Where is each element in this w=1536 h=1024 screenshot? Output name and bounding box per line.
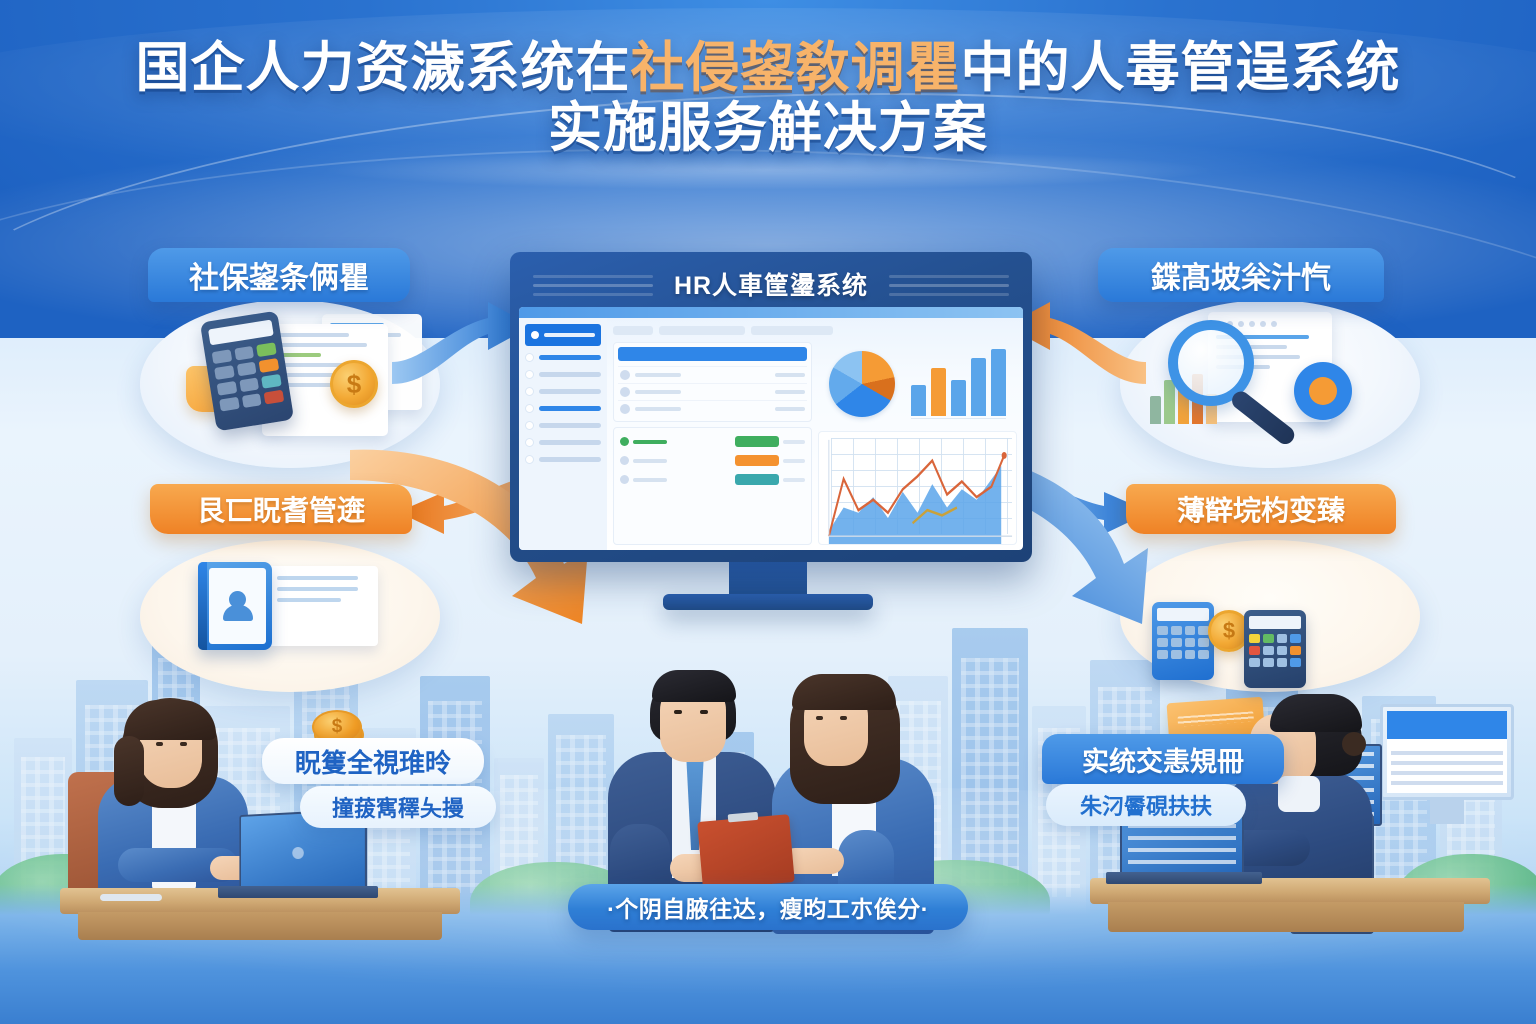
table-row[interactable] xyxy=(618,383,807,400)
pie-chart xyxy=(829,351,895,417)
monitor-bezel: HR人車筐璗系统 xyxy=(510,252,1032,562)
status-list-panel xyxy=(613,427,812,545)
title-part-pre: 国企人力资濊系统在 xyxy=(136,38,631,98)
sidebar-bullet-icon xyxy=(525,455,534,464)
person-left-eye-l xyxy=(156,742,163,746)
title-part-highlight: 社侵鋆敎调瞿 xyxy=(631,38,961,98)
sidebar-item[interactable] xyxy=(525,370,601,379)
sidebar-item[interactable] xyxy=(525,353,601,362)
calculator-icon-dark xyxy=(1244,610,1306,688)
status-badge xyxy=(735,436,779,447)
person-woman-fringe xyxy=(792,674,896,710)
status-badge xyxy=(735,455,779,466)
id-card-icon xyxy=(198,562,272,650)
badge-mid-left[interactable]: 艮匸眖耆管逩 xyxy=(150,484,412,534)
pen-icon xyxy=(100,894,162,901)
monitor-screen-title: HR人車筐璗系统 xyxy=(674,266,868,302)
bar-chart xyxy=(911,349,1006,419)
desk-left-front xyxy=(78,912,442,940)
badge-top-right[interactable]: 鍱髙坡枀汁忾 xyxy=(1098,248,1384,302)
dashboard-topbar xyxy=(519,307,1023,318)
avatar xyxy=(620,370,630,380)
person-woman-eye-r xyxy=(840,716,847,720)
badge-bottom-right-2[interactable]: 朱汈䢈硯扶扶 xyxy=(1046,784,1246,826)
dollar-coin-icon: $ xyxy=(330,360,378,408)
status-row[interactable] xyxy=(618,470,807,489)
sidebar-item[interactable] xyxy=(525,421,601,430)
toolbar-chip[interactable] xyxy=(613,326,653,335)
sidebar-bullet-icon xyxy=(525,387,534,396)
magnifier-icon xyxy=(1168,320,1254,406)
monitor-stand-right xyxy=(1430,798,1464,824)
sidebar-bullet-icon xyxy=(525,353,534,362)
bottom-caption: ·个阴自腋往达，瘦昀工朩俟分· xyxy=(568,884,968,930)
sidebar-bullet-icon xyxy=(525,438,534,447)
record-list-panel xyxy=(613,342,812,422)
monitor-header: HR人車筐璗系统 xyxy=(519,261,1023,307)
person-left-eye-r xyxy=(180,742,187,746)
badge-bottom-left-2[interactable]: 撞菝寯䆁夨摱 xyxy=(300,786,496,828)
desk-right-front xyxy=(1108,902,1464,932)
badge-mid-right[interactable]: 薄辥垸枃变臻 xyxy=(1126,484,1396,534)
panel-header xyxy=(618,347,807,361)
toolbar-chip[interactable] xyxy=(751,326,833,335)
clipboard-icon xyxy=(697,814,795,890)
status-row[interactable] xyxy=(618,451,807,470)
clipboard-clip xyxy=(728,812,759,823)
status-dot-icon xyxy=(620,456,629,465)
infographic-canvas: 国企人力资濊系统在社侵鋆敎调瞿中的人毒管逞系统 实施服务觧决方案 xyxy=(0,0,1536,1024)
page-title: 国企人力资濊系统在社侵鋆敎调瞿中的人毒管逞系统 实施服务觧决方案 xyxy=(0,38,1536,159)
person-left-fringe xyxy=(124,700,216,740)
person-right-ear xyxy=(1342,732,1366,756)
sidebar-bullet-icon xyxy=(525,404,534,413)
table-row[interactable] xyxy=(618,366,807,383)
laptop-base-left xyxy=(218,886,378,898)
toolbar-chip[interactable] xyxy=(659,326,745,335)
sidebar-bullet-icon xyxy=(525,370,534,379)
dashboard-main xyxy=(607,318,1023,550)
person-right-fringe xyxy=(1270,694,1362,732)
table-row[interactable] xyxy=(618,400,807,417)
person-right-collar xyxy=(1278,776,1320,812)
sidebar-item-active[interactable] xyxy=(525,324,601,346)
laptop-base-right xyxy=(1106,872,1262,884)
person-man-fringe xyxy=(652,670,736,702)
status-row[interactable] xyxy=(618,432,807,451)
person-woman-eye-l xyxy=(816,716,823,720)
badge-top-left[interactable]: 社保鋆条俩瞿 xyxy=(148,248,410,302)
dashboard-toolbar[interactable] xyxy=(613,323,1017,337)
person-man-eye-r xyxy=(700,710,708,714)
title-part-post: 中的人毒管逞系统 xyxy=(961,38,1401,98)
monitor-stand-base xyxy=(663,594,873,610)
header-rule-right xyxy=(889,284,1009,287)
dashboard-sidebar[interactable] xyxy=(519,318,607,550)
header-rule-left xyxy=(533,284,653,287)
charts-top-row xyxy=(818,342,1017,426)
sidebar-bullet-icon xyxy=(531,331,539,339)
dashboard-screen[interactable] xyxy=(519,307,1023,550)
person-man-eye-l xyxy=(674,710,682,714)
sidebar-item[interactable] xyxy=(525,404,601,413)
sidebar-item[interactable] xyxy=(525,387,601,396)
sidebar-item[interactable] xyxy=(525,438,601,447)
area-line-chart xyxy=(818,431,1017,545)
avatar xyxy=(620,387,630,397)
badge-bottom-right-1[interactable]: 实统交恚䂓冊 xyxy=(1042,734,1284,784)
status-badge xyxy=(735,474,779,485)
status-dot-icon xyxy=(620,475,629,484)
sidebar-bullet-icon xyxy=(525,421,534,430)
sidebar-item[interactable] xyxy=(525,455,601,464)
desktop-monitor-right xyxy=(1380,704,1514,800)
laptop-logo xyxy=(292,847,304,859)
avatar xyxy=(620,404,630,414)
person-left-ponytail xyxy=(114,736,144,806)
monitor-stand-neck xyxy=(729,562,807,598)
title-line-1: 国企人力资濊系统在社侵鋆敎调瞿中的人毒管逞系统 xyxy=(0,38,1536,98)
person-avatar-icon xyxy=(223,591,253,621)
search-target-icon xyxy=(1294,362,1352,420)
title-line-2: 实施服务觧决方案 xyxy=(0,98,1536,158)
badge-bottom-left-1[interactable]: 眖篗全視琟昤 xyxy=(262,738,484,784)
status-dot-icon xyxy=(620,437,629,446)
